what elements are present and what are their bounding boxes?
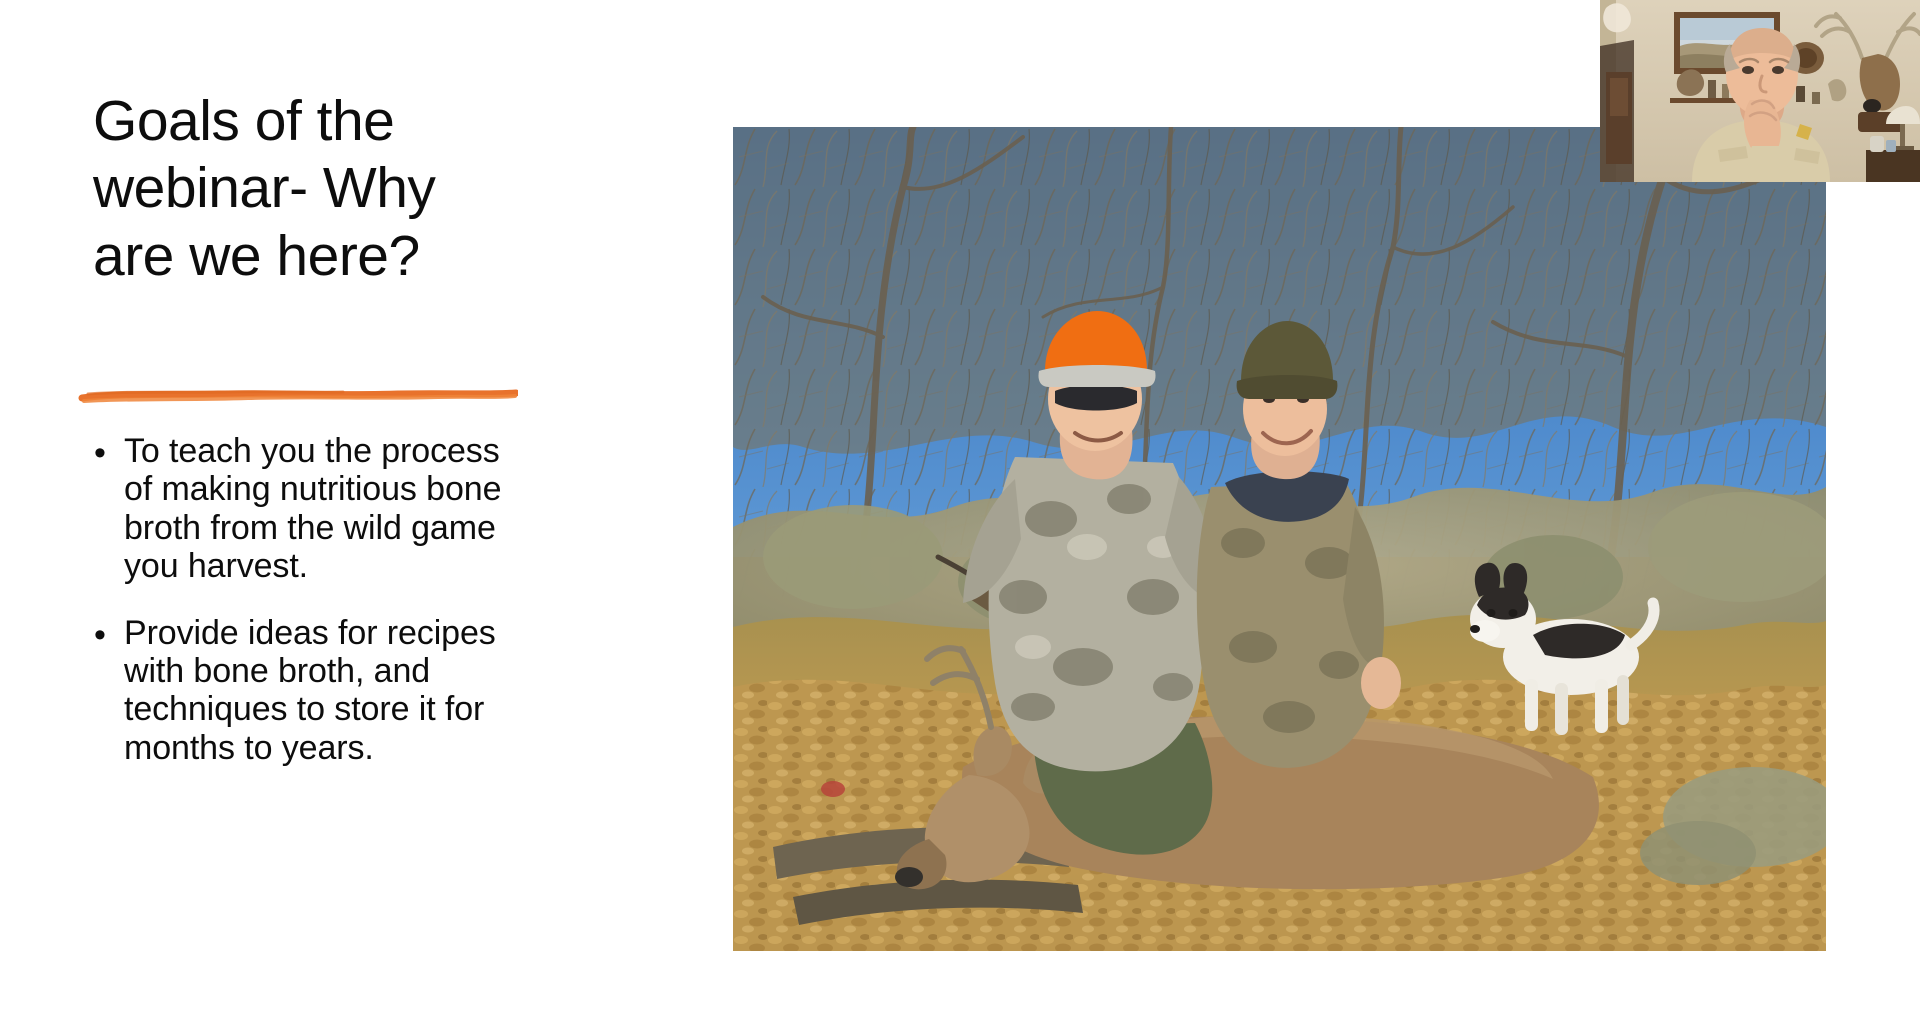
bullet-list: • To teach you the process of making nut… [88,432,518,795]
bullet-text: Provide ideas for recipes with bone brot… [124,614,496,767]
bullet-marker-icon: • [94,434,106,472]
hunting-photo [733,127,1826,951]
bullet-marker-icon: • [94,616,106,654]
presenter-webcam[interactable] [1600,0,1920,182]
bullet-text: To teach you the process of making nutri… [124,432,501,585]
list-item: • To teach you the process of making nut… [88,432,518,586]
slide-title: Goals of the webinar- Why are we here? [93,88,563,290]
list-item: • Provide ideas for recipes with bone br… [88,614,518,768]
orange-divider-line [78,382,518,408]
presentation-slide: Goals of the webinar- Why are we here? •… [0,0,1920,1030]
